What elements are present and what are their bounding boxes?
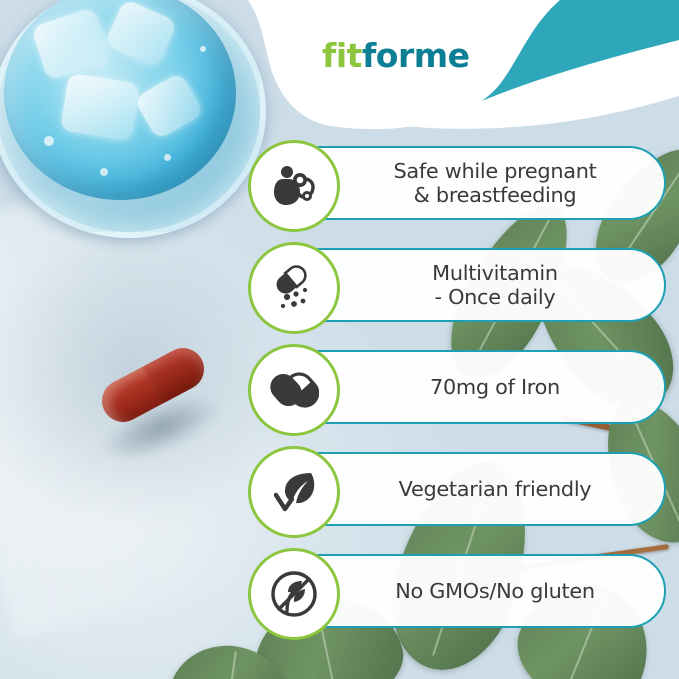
feature-text: No GMOs/No gluten (395, 579, 595, 603)
feature-line-2: & breastfeeding (394, 183, 597, 207)
feature-text: Safe while pregnant & breastfeeding (394, 159, 597, 207)
water-bubble (164, 154, 171, 161)
feature-row: Vegetarian friendly (248, 446, 666, 532)
feature-line-1: No GMOs/No gluten (395, 579, 595, 603)
feature-line-2: - Once daily (432, 285, 558, 309)
feature-line-1: Vegetarian friendly (399, 477, 592, 501)
capsule-pills-icon (248, 242, 340, 334)
feature-text: 70mg of Iron (430, 375, 560, 399)
feature-text: Multivitamin - Once daily (432, 261, 558, 309)
feature-row: Multivitamin - Once daily (248, 242, 666, 328)
feature-row: Safe while pregnant & breastfeeding (248, 140, 666, 226)
brand-logo: fitforme (322, 36, 470, 75)
product-infographic: fitforme Safe while pregnant & breastfee… (0, 0, 679, 679)
pregnant-breastfeeding-icon (248, 140, 340, 232)
water-bubble (100, 168, 108, 176)
brand-name-part-1: fit (322, 36, 362, 75)
feature-line-1: Multivitamin (432, 261, 558, 285)
leaf-check-icon (248, 446, 340, 538)
feature-text: Vegetarian friendly (399, 477, 592, 501)
feature-row: 70mg of Iron (248, 344, 666, 430)
no-gmo-icon (248, 548, 340, 640)
two-capsules-icon (248, 344, 340, 436)
feature-row: No GMOs/No gluten (248, 548, 666, 634)
brand-name-part-2: forme (362, 36, 470, 75)
feature-list: Safe while pregnant & breastfeeding (248, 140, 666, 650)
feature-line-1: 70mg of Iron (430, 375, 560, 399)
feature-line-1: Safe while pregnant (394, 159, 597, 183)
